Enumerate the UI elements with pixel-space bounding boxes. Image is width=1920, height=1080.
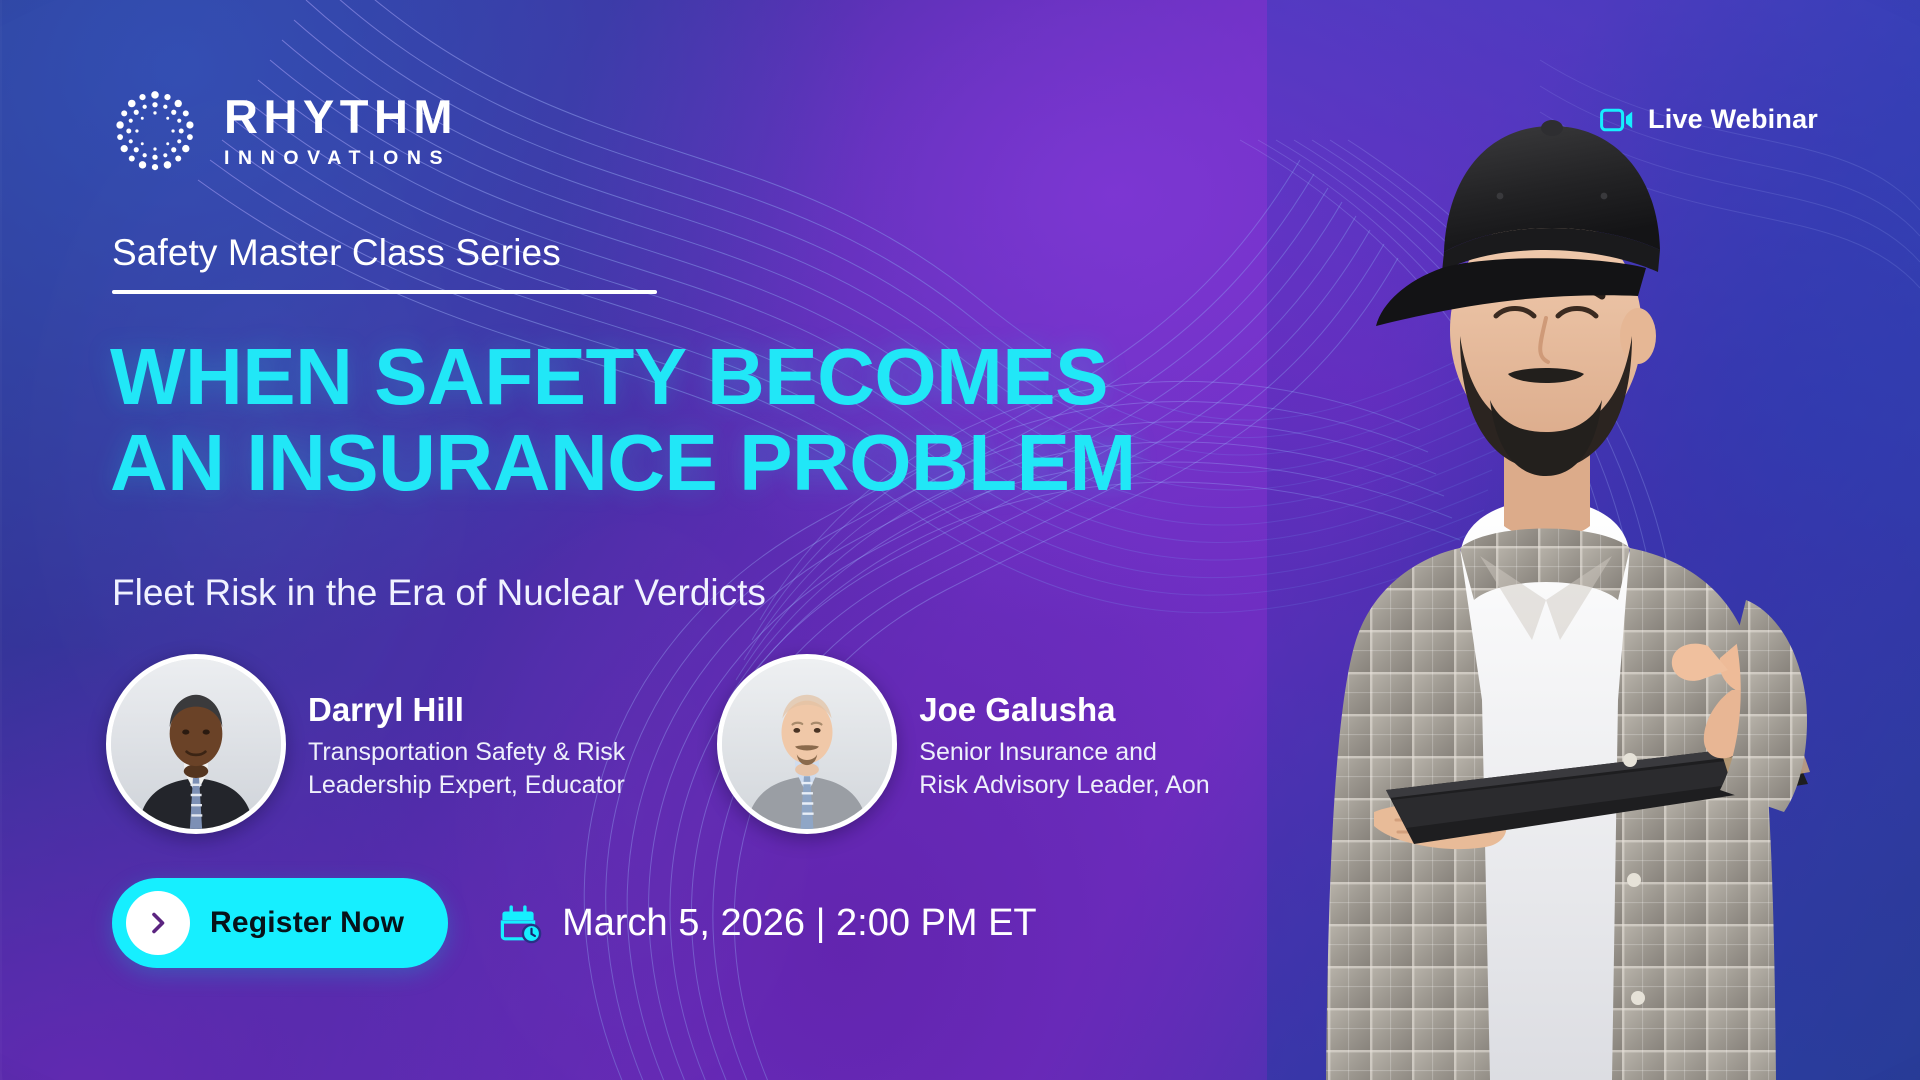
webinar-promo-banner: RHYTHM INNOVATIONS Live Webinar Safety M… — [0, 0, 1920, 1080]
vignette-overlay — [0, 0, 1920, 1080]
